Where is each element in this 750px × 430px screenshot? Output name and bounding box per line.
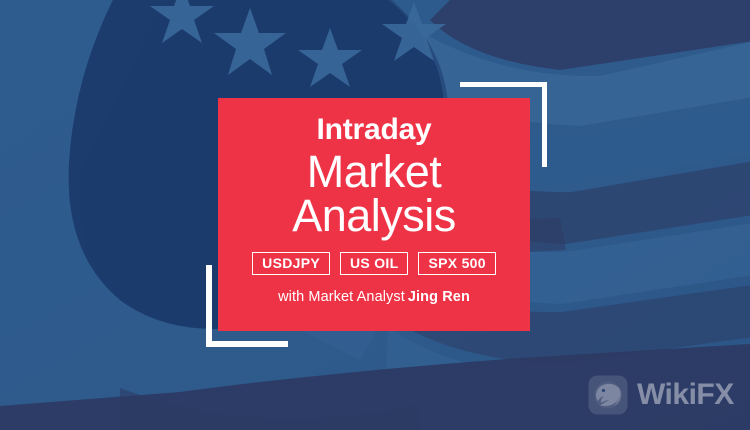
instrument-tag-spx-500[interactable]: SPX 500: [418, 252, 495, 275]
instrument-tag-row: USDJPY US OIL SPX 500: [218, 252, 530, 275]
analyst-name: Jing Ren: [408, 289, 470, 305]
page-title: Market Analysis: [218, 150, 530, 238]
eagle-head-icon: [588, 375, 628, 415]
market-analysis-banner: Intraday Market Analysis USDJPY US OIL S…: [0, 0, 750, 430]
title-card: Intraday Market Analysis USDJPY US OIL S…: [218, 98, 530, 331]
instrument-tag-us-oil[interactable]: US OIL: [340, 252, 408, 275]
instrument-tag-usdjpy[interactable]: USDJPY: [252, 252, 330, 275]
eyebrow-title: Intraday: [218, 114, 530, 146]
wikifx-wordmark: WikiFX: [637, 380, 734, 410]
byline: with Market AnalystJing Ren: [218, 289, 530, 305]
wikifx-watermark: WikiFX: [588, 375, 734, 415]
byline-prefix: with Market Analyst: [278, 289, 405, 305]
